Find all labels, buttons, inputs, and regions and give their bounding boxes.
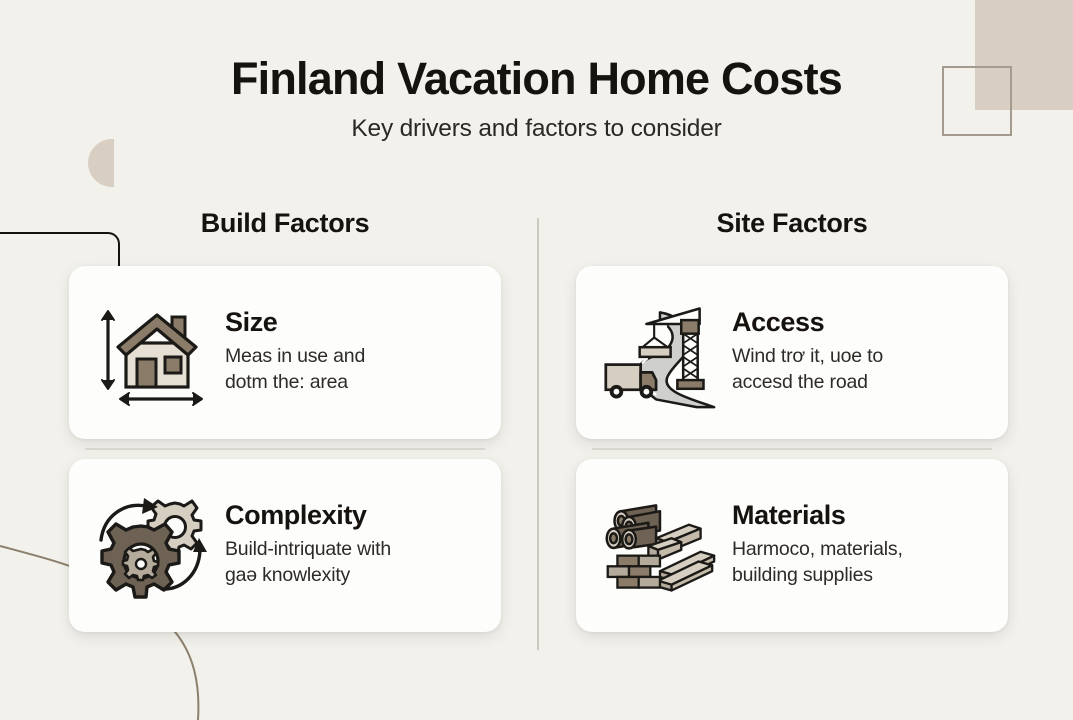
- house-dimensions-icon: [93, 295, 211, 411]
- card-materials-desc-line2: building supplies: [732, 563, 986, 589]
- card-access-description: Wind trơ it, uoe to accesd the road: [732, 344, 986, 395]
- page-subtitle: Key drivers and factors to consider: [0, 115, 1073, 143]
- card-size-desc-line1: Meas in use and: [225, 344, 479, 370]
- column-heading-site: Site Factors: [576, 208, 1008, 239]
- card-size-title: Size: [225, 308, 479, 338]
- column-site-factors: Site Factors: [576, 208, 1008, 632]
- card-complexity-desc-line1: Build-intriquate with: [225, 537, 479, 563]
- card-complexity-desc-line2: gaə knowlexity: [225, 563, 479, 589]
- card-materials-title: Materials: [732, 501, 986, 531]
- factor-columns: Build Factors: [0, 208, 1073, 668]
- card-access-text: Access Wind trơ it, uoe to accesd the ro…: [718, 308, 986, 398]
- card-materials-text: Materials Harmoco, materials, building s…: [718, 501, 986, 591]
- gears-icon: [93, 488, 211, 604]
- card-materials-desc-line1: Harmoco, materials,: [732, 537, 986, 563]
- card-access-desc-line2: accesd the road: [732, 370, 986, 396]
- card-separator-right: [576, 439, 1008, 459]
- lumber-bricks-icon: [600, 488, 718, 604]
- card-separator-left: [69, 439, 501, 459]
- page-title: Finland Vacation Home Costs: [0, 54, 1073, 104]
- card-size-desc-line2: dotm the: area: [225, 370, 479, 396]
- card-complexity-text: Complexity Build-intriquate with gaə kno…: [211, 501, 479, 591]
- card-access[interactable]: Access Wind trơ it, uoe to accesd the ro…: [576, 266, 1008, 439]
- header: Finland Vacation Home Costs Key drivers …: [0, 0, 1073, 143]
- card-materials-description: Harmoco, materials, building supplies: [732, 537, 986, 588]
- card-size-description: Meas in use and dotm the: area: [225, 344, 479, 395]
- road-truck-crane-icon: [600, 295, 718, 411]
- card-complexity-description: Build-intriquate with gaə knowlexity: [225, 537, 479, 588]
- column-heading-build: Build Factors: [69, 208, 501, 239]
- column-build-factors: Build Factors: [69, 208, 501, 632]
- card-materials[interactable]: Materials Harmoco, materials, building s…: [576, 459, 1008, 632]
- card-complexity-title: Complexity: [225, 501, 479, 531]
- card-size-text: Size Meas in use and dotm the: area: [211, 308, 479, 398]
- card-access-desc-line1: Wind trơ it, uoe to: [732, 344, 986, 370]
- card-access-title: Access: [732, 308, 986, 338]
- decorative-half-circle: [88, 139, 114, 187]
- column-divider: [537, 218, 539, 650]
- card-size[interactable]: Size Meas in use and dotm the: area: [69, 266, 501, 439]
- card-complexity[interactable]: Complexity Build-intriquate with gaə kno…: [69, 459, 501, 632]
